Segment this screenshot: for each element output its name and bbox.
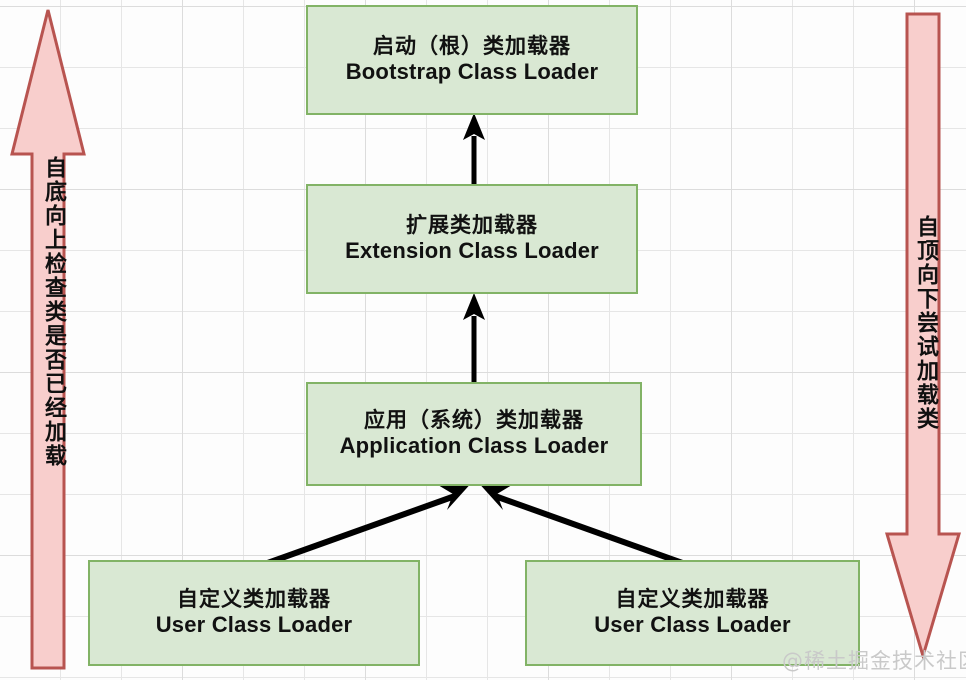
node-extension-label-en: Extension Class Loader: [345, 238, 599, 265]
node-user-left-label-cn: 自定义类加载器: [177, 587, 331, 613]
node-application-label-en: Application Class Loader: [340, 433, 609, 460]
node-user-right-label-en: User Class Loader: [594, 612, 791, 639]
node-bootstrap-class-loader[interactable]: 启动（根）类加载器 Bootstrap Class Loader: [306, 5, 638, 115]
block-arrow-right-label: 自顶向下尝试加载类: [905, 215, 937, 431]
node-user-left-label-en: User Class Loader: [156, 612, 353, 639]
node-extension-class-loader[interactable]: 扩展类加载器 Extension Class Loader: [306, 184, 638, 294]
connector-extension-to-bootstrap: [458, 110, 490, 190]
diagram-canvas: 启动（根）类加载器 Bootstrap Class Loader 扩展类加载器 …: [0, 0, 966, 680]
node-user-right-label-cn: 自定义类加载器: [616, 587, 770, 613]
node-application-class-loader[interactable]: 应用（系统）类加载器 Application Class Loader: [306, 382, 642, 486]
watermark: @稀土掘金技术社区: [782, 645, 966, 675]
block-arrow-left-label: 自底向上检查类是否已经加载: [33, 156, 65, 468]
node-extension-label-cn: 扩展类加载器: [406, 213, 538, 239]
connector-application-to-extension: [458, 290, 490, 388]
node-user-class-loader-left[interactable]: 自定义类加载器 User Class Loader: [88, 560, 420, 666]
node-application-label-cn: 应用（系统）类加载器: [364, 408, 584, 434]
node-bootstrap-label-cn: 启动（根）类加载器: [373, 34, 571, 60]
node-bootstrap-label-en: Bootstrap Class Loader: [346, 59, 599, 86]
